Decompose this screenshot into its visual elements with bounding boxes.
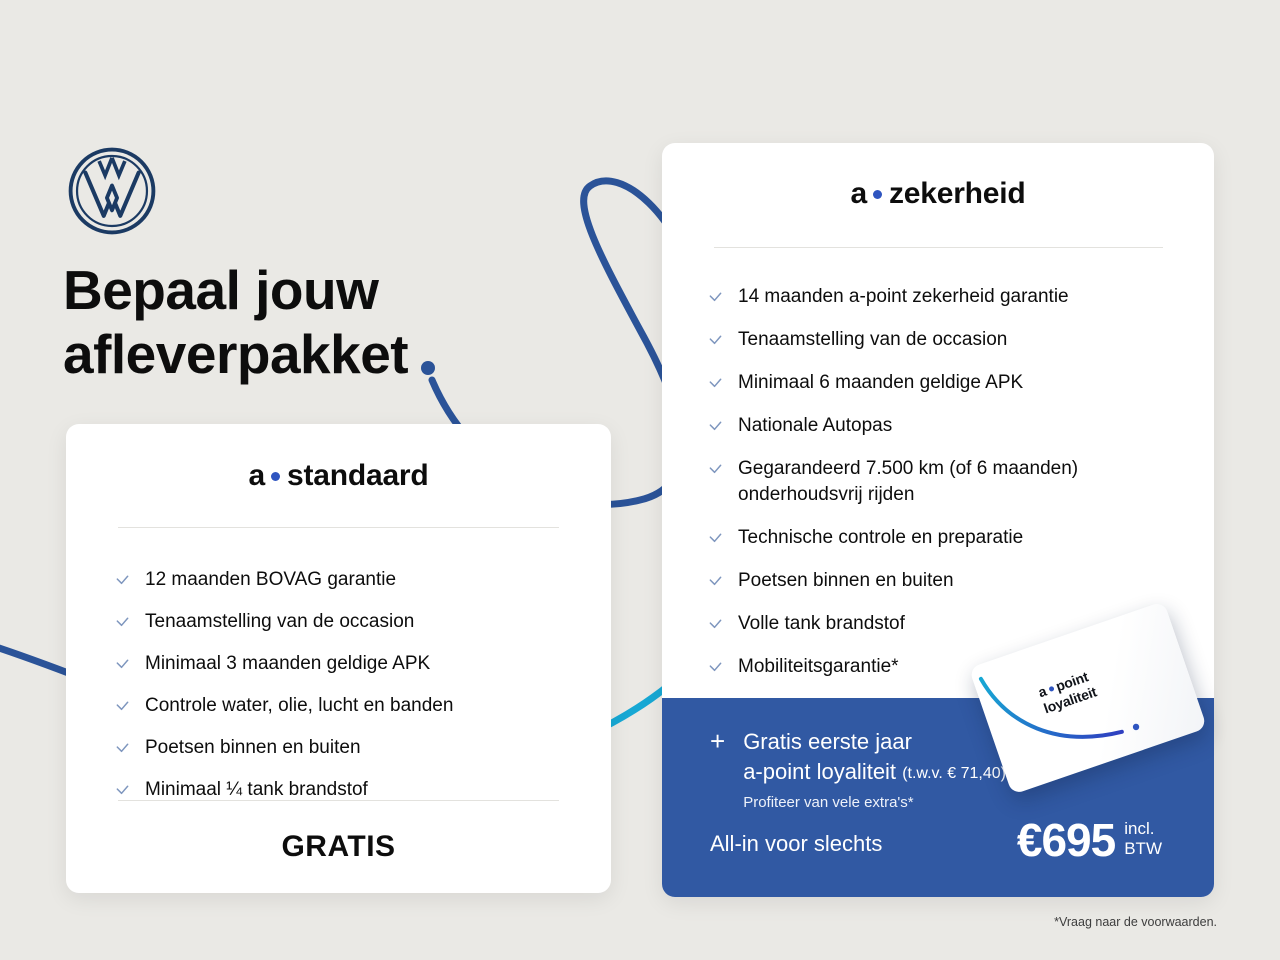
feature-item: Poetsen binnen en buiten: [708, 568, 1178, 594]
check-icon: [708, 660, 723, 675]
price-group: €695 incl. BTW: [1017, 817, 1162, 863]
bonus-line-1: Gratis eerste jaar: [743, 727, 1006, 757]
price-tax-line-1: incl.: [1124, 819, 1162, 839]
feature-list-standaard: 12 maanden BOVAG garantieTenaamstelling …: [115, 567, 611, 803]
brand-a-mark: a: [850, 177, 871, 211]
check-icon: [708, 531, 723, 546]
vw-logo-icon: [66, 145, 158, 237]
feature-item: Poetsen binnen en buiten: [115, 735, 611, 761]
check-icon: [708, 333, 723, 348]
price-row: All-in voor slechts €695 incl. BTW: [710, 817, 1162, 863]
price-label-standaard: GRATIS: [66, 830, 611, 864]
feature-item: 12 maanden BOVAG garantie: [115, 567, 611, 593]
check-icon: [708, 376, 723, 391]
feature-text: Poetsen binnen en buiten: [145, 735, 361, 761]
check-icon: [708, 290, 723, 305]
check-icon: [115, 615, 130, 630]
card-divider: [118, 527, 559, 528]
feature-item: Minimaal 3 maanden geldige APK: [115, 651, 611, 677]
feature-item: Tenaamstelling van de occasion: [708, 327, 1178, 353]
check-icon: [708, 574, 723, 589]
feature-text: Controle water, olie, lucht en banden: [145, 693, 453, 719]
card-bottom-divider: [118, 800, 559, 801]
allin-label: All-in voor slechts: [710, 831, 882, 863]
bonus-text-group: Gratis eerste jaar a-point loyaliteit (t…: [743, 727, 1006, 815]
feature-text: Gegarandeerd 7.500 km (of 6 maanden) ond…: [738, 456, 1178, 508]
brand-dot-icon: [873, 190, 882, 199]
feature-text: Volle tank brandstof: [738, 611, 905, 637]
bonus-row: + Gratis eerste jaar a-point loyaliteit …: [710, 727, 1006, 815]
feature-text: 12 maanden BOVAG garantie: [145, 567, 396, 593]
price-amount: €695: [1017, 817, 1115, 863]
check-icon: [115, 657, 130, 672]
package-card-standaard[interactable]: astandaard 12 maanden BOVAG garantieTena…: [66, 424, 611, 893]
feature-item: Gegarandeerd 7.500 km (of 6 maanden) ond…: [708, 456, 1178, 508]
loyalty-dot-icon: [1048, 686, 1054, 692]
feature-text: Nationale Autopas: [738, 413, 892, 439]
card-body-zekerheid: azekerheid 14 maanden a-point zekerheid …: [662, 177, 1214, 680]
feature-item: Controle water, olie, lucht en banden: [115, 693, 611, 719]
feature-item: 14 maanden a-point zekerheid garantie: [708, 284, 1178, 310]
plus-icon: +: [710, 728, 725, 754]
check-icon: [115, 573, 130, 588]
price-tax-note: incl. BTW: [1124, 817, 1162, 859]
promo-page: Bepaal jouw afleverpakket astandaard 12 …: [0, 0, 1280, 960]
check-icon: [115, 783, 130, 798]
feature-item: Technische controle en preparatie: [708, 525, 1178, 551]
headline-line-1: Bepaal jouw: [63, 258, 623, 322]
bonus-line-2: a-point loyaliteit (t.w.v. € 71,40): [743, 757, 1006, 789]
feature-text: Poetsen binnen en buiten: [738, 568, 954, 594]
bonus-value-note: (t.w.v. € 71,40): [902, 765, 1006, 782]
feature-text: Minimaal 6 maanden geldige APK: [738, 370, 1023, 396]
feature-text: Minimaal 3 maanden geldige APK: [145, 651, 430, 677]
feature-text: Mobiliteitsgarantie*: [738, 654, 899, 680]
package-card-zekerheid[interactable]: azekerheid 14 maanden a-point zekerheid …: [662, 143, 1214, 897]
feature-text: Tenaamstelling van de occasion: [145, 609, 414, 635]
feature-item: Tenaamstelling van de occasion: [115, 609, 611, 635]
headline-line-2: afleverpakket: [63, 322, 623, 386]
check-icon: [708, 419, 723, 434]
brand-dot-icon: [271, 472, 280, 481]
brand-a-mark: a: [248, 459, 269, 493]
check-icon: [708, 617, 723, 632]
card-title-zekerheid: azekerheid: [662, 177, 1214, 211]
card-title-standaard: astandaard: [66, 459, 611, 493]
check-icon: [115, 741, 130, 756]
page-title: Bepaal jouw afleverpakket: [63, 258, 623, 386]
card-title-text: standaard: [287, 459, 429, 492]
feature-text: Tenaamstelling van de occasion: [738, 327, 1007, 353]
feature-item: Nationale Autopas: [708, 413, 1178, 439]
feature-text: Technische controle en preparatie: [738, 525, 1023, 551]
card-divider: [714, 247, 1163, 248]
feature-text: 14 maanden a-point zekerheid garantie: [738, 284, 1069, 310]
check-icon: [708, 462, 723, 477]
bonus-line-2-main: a-point loyaliteit: [743, 759, 896, 784]
check-icon: [115, 699, 130, 714]
card-title-text: zekerheid: [889, 177, 1026, 210]
price-tax-line-2: BTW: [1124, 839, 1162, 859]
bonus-line-3: Profiteer van vele extra's*: [743, 791, 1006, 815]
feature-item: Minimaal 6 maanden geldige APK: [708, 370, 1178, 396]
footnote-disclaimer: *Vraag naar de voorwaarden.: [1054, 915, 1217, 929]
